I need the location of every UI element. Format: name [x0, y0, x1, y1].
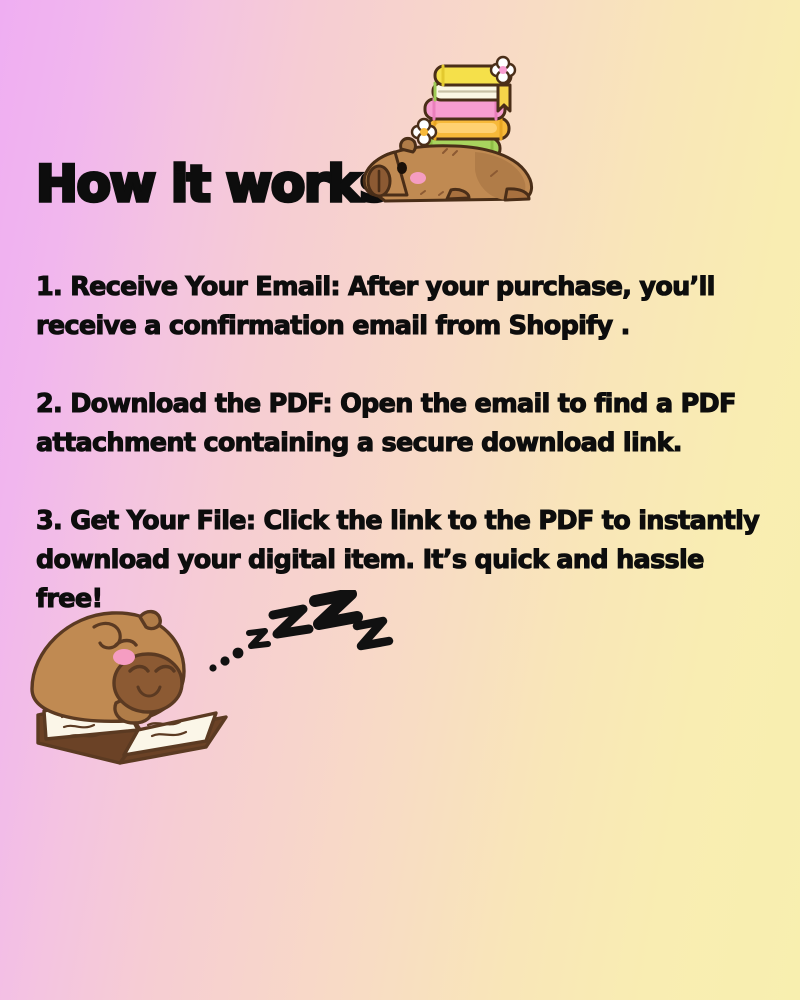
- zzz-dot: [209, 664, 216, 671]
- zzz-dot: [220, 656, 229, 665]
- poster-canvas: How it works: [0, 0, 800, 1000]
- orange-book-icon: [427, 118, 509, 139]
- zzz-letter: [357, 621, 389, 646]
- pink-book-icon: [425, 99, 505, 119]
- zzz-dot: [233, 648, 244, 659]
- page-title: How it works: [36, 155, 388, 213]
- steps-list: 1. Receive Your Email: After your purcha…: [36, 268, 766, 619]
- step-item-1: 1. Receive Your Email: After your purcha…: [36, 268, 766, 346]
- step-item-2: 2. Download the PDF: Open the email to f…: [36, 385, 766, 463]
- capybara-body: [364, 138, 531, 201]
- step-item-3: 3. Get Your File: Click the link to the …: [36, 502, 766, 619]
- sleeping-capybara-body: [32, 612, 184, 723]
- zzz-letter: [249, 631, 268, 646]
- bookmark-icon: [498, 85, 510, 111]
- capybara-with-book-stack-illustration: [355, 55, 555, 245]
